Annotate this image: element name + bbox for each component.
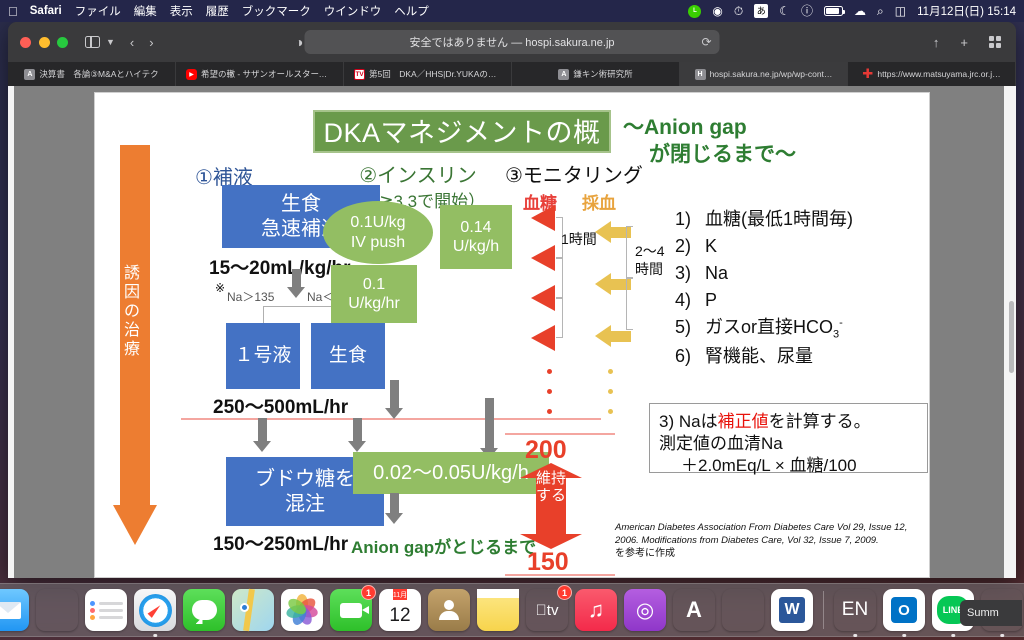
battery-icon[interactable]	[824, 6, 843, 16]
control-center-icon[interactable]: ◉	[712, 5, 722, 17]
back-button[interactable]: ‹	[127, 31, 137, 53]
dock-item-apple-tv[interactable]: tv1	[526, 589, 568, 631]
bookmark-item-5[interactable]: ✚https://www.matsuyama.jrc.or.j…	[848, 62, 1016, 86]
time-machine-icon[interactable]: ⏱	[734, 5, 743, 17]
na-correction-box: 3) Naは補正値を計算する。 測定値の血清Na ＋2.0mEq/L × 血糖/…	[649, 403, 928, 473]
apple-logo-icon[interactable]: 	[8, 5, 18, 18]
address-bar-text: 安全ではありません — hospi.sakura.ne.jp	[409, 34, 614, 50]
bookmark-favicon-icon: ▶	[186, 69, 197, 80]
minimize-button[interactable]	[39, 37, 50, 48]
bookmark-favicon-icon: A	[558, 69, 569, 80]
menu-item-view[interactable]: 表示	[170, 3, 193, 19]
dock-item-notes[interactable]	[477, 589, 519, 631]
share-icon[interactable]: ↑	[930, 31, 943, 53]
monitoring-list: 1)血糖(最低1時間毎)2)K3)Na4)P5)ガスor直接HCO3-6)腎機能…	[675, 206, 853, 370]
monitoring-list-text: Na	[705, 260, 728, 287]
dock-item-messages[interactable]	[183, 589, 225, 631]
interval-2-4hour-line1: 2〜4	[635, 243, 665, 261]
monitoring-list-text: ガスor直接HCO3-	[705, 314, 843, 343]
slide-title: DKAマネジメントの概要	[313, 110, 611, 153]
new-tab-icon[interactable]: +	[957, 31, 971, 53]
bookmarks-bar: A決算書 各論③M&Aとハイテク▶希望の轍 - サザンオールスターズ -…TV第…	[8, 62, 1016, 86]
bookmark-favicon-icon: ✚	[862, 69, 873, 80]
grey-arrow-down-5-icon	[480, 398, 498, 459]
orange-arrow-label: 誘因の治療	[117, 265, 147, 359]
safari-toolbar: ▼ ‹ › ◑ 安全ではありません — hospi.sakura.ne.jp ⟳…	[8, 22, 1016, 62]
dock-item-photos[interactable]	[281, 589, 323, 631]
page-scrollbar[interactable]	[1009, 301, 1014, 373]
dock-item-en-dictionary[interactable]: EN	[834, 589, 876, 631]
dock-running-indicator	[951, 634, 955, 638]
interval-2-4hour-label: 2〜4 時間	[635, 243, 665, 278]
dock-badge: 1	[557, 585, 572, 600]
red-triangle-2-icon	[531, 245, 555, 271]
bookmark-item-0[interactable]: A決算書 各論③M&Aとハイテク	[8, 62, 176, 86]
search-icon[interactable]: ⌕	[877, 5, 884, 17]
bookmark-favicon-icon: H	[695, 69, 706, 80]
na-box-line2: 測定値の血清Na	[659, 433, 918, 455]
red-triangle-4-icon	[531, 325, 555, 351]
bracket-24hour-b	[626, 278, 633, 330]
chevron-down-icon[interactable]: ▼	[103, 31, 118, 53]
asterisk-mark: ※	[215, 281, 225, 295]
yellow-dot-3	[608, 409, 613, 414]
menu-bar-status-area: L ◉ ⏱ あ ☾ ⓘ ☁ ⌕ ◫ 11月12日(日) 15:14	[688, 3, 1016, 19]
na-greater-135: Na＞135	[227, 288, 274, 305]
anion-gap-bottom-label: Anion gapがとじるまで	[351, 533, 536, 558]
maintain-label: 維持する	[535, 471, 567, 505]
section-2-title: ②インスリン	[359, 165, 477, 187]
monitoring-list-item: 2)K	[675, 233, 853, 260]
citation: American Diabetes Association From Diabe…	[615, 522, 915, 560]
red-dot-3	[547, 409, 552, 414]
monitoring-list-number: 6)	[675, 343, 705, 370]
menu-item-help[interactable]: ヘルプ	[394, 3, 429, 19]
red-dot-1	[547, 369, 552, 374]
monitoring-list-text: 腎機能、尿量	[705, 343, 813, 370]
dock: 111月12tv1♫◎AWENOLINE	[0, 583, 1024, 637]
envelope-icon	[0, 602, 21, 619]
rate-150-250: 150〜250mL/hr	[213, 529, 348, 556]
dock-item-launchpad[interactable]	[36, 589, 78, 631]
red-triangle-1-icon	[531, 205, 555, 231]
glucose-target-upper: 200	[525, 436, 567, 465]
sidebar-toggle-icon[interactable]	[82, 31, 103, 53]
bracket-1hour-c	[556, 298, 563, 338]
monitoring-list-item: 3)Na	[675, 260, 853, 287]
window-controls	[20, 37, 68, 48]
na-box-line1-post: を計算する。	[769, 412, 871, 431]
bookmark-item-3[interactable]: A鎌キン術研究所	[512, 62, 680, 86]
yellow-dot-2	[608, 389, 613, 394]
insulin-bolus-line1: 0.1U/kg	[350, 213, 405, 232]
grey-arrow-down-3-icon	[348, 418, 366, 452]
dock-badge: 1	[361, 585, 376, 600]
bookmark-favicon-icon: TV	[354, 69, 365, 80]
dock-running-indicator	[902, 634, 906, 638]
citation-japanese: を参考に作成	[615, 547, 915, 560]
dock-item-mail[interactable]	[0, 589, 29, 631]
na-box-line1: 3) Naは補正値を計算する。	[659, 411, 918, 433]
dka-management-slide: DKAマネジメントの概要 〜Anion gap が閉じるまで〜 ①補液 ②インス…	[94, 92, 930, 578]
ime-kana-icon[interactable]: あ	[754, 4, 768, 18]
pink-divider-200	[505, 433, 615, 435]
monitoring-list-number: 5)	[675, 314, 705, 343]
red-triangle-3-icon	[531, 285, 555, 311]
red-dot-2	[547, 389, 552, 394]
monitoring-list-text: 血糖(最低1時間毎)	[705, 206, 853, 233]
na-box-line1-red: 補正値	[718, 412, 769, 431]
monitoring-list-item: 1)血糖(最低1時間毎)	[675, 206, 853, 233]
menu-item-bookmarks[interactable]: ブックマーク	[242, 3, 311, 19]
citation-english: American Diabetes Association From Diabe…	[615, 522, 907, 546]
grey-arrow-down-1-icon	[287, 269, 305, 298]
dock-item-music[interactable]: ♫	[575, 589, 617, 631]
insulin-bolus-ellipse: 0.1U/kg IV push	[323, 201, 433, 264]
speech-bubble-icon	[192, 600, 217, 620]
menu-bar-clock[interactable]: 11月12日(日) 15:14	[917, 3, 1016, 19]
insulin-bolus-line2: IV push	[351, 233, 405, 252]
box-glucose-line2: 混注	[285, 492, 325, 516]
insulin-014-line2: U/kg/h	[453, 237, 499, 256]
yellow-dot-1	[608, 369, 613, 374]
dock-item-reminders[interactable]	[85, 589, 127, 631]
insulin-014-box: 0.14 U/kg/h	[440, 205, 512, 269]
bookmark-label: 第5回 DKA／HHS|Dr.YUKAの5…	[369, 68, 501, 80]
bookmark-favicon-icon: A	[24, 69, 35, 80]
dock-running-indicator	[853, 634, 857, 638]
forward-button[interactable]: ›	[146, 31, 156, 53]
box-1gou-fluid: １号液	[226, 323, 300, 389]
reader-view-icon[interactable]: ◑	[295, 34, 303, 50]
dock-running-indicator	[1000, 634, 1004, 638]
compass-icon	[139, 594, 172, 627]
bookmark-item-4[interactable]: Hhospi.sakura.ne.jp/wp/wp-cont…	[680, 62, 848, 86]
bookmark-label: hospi.sakura.ne.jp/wp/wp-cont…	[710, 69, 833, 79]
wifi-icon[interactable]: ☁	[854, 5, 866, 17]
dock-item-calendar[interactable]: 11月12	[379, 589, 421, 631]
monitoring-list-item: 6)腎機能、尿量	[675, 343, 853, 370]
menu-item-file[interactable]: ファイル	[75, 3, 121, 19]
menu-app-name[interactable]: Safari	[30, 5, 62, 17]
anion-gap-heading-line2: が閉じるまで〜	[623, 142, 923, 169]
menu-item-window[interactable]: ウインドウ	[324, 3, 382, 19]
anion-gap-heading-line1: 〜Anion gap	[623, 115, 923, 142]
dock-item-podcasts[interactable]: ◎	[624, 589, 666, 631]
monitoring-list-item: 5)ガスor直接HCO3-	[675, 314, 853, 343]
address-bar[interactable]: 安全ではありません — hospi.sakura.ne.jp ⟳	[305, 30, 720, 54]
anion-gap-heading: 〜Anion gap が閉じるまで〜	[623, 115, 923, 169]
box-saline-2: 生食	[311, 323, 385, 389]
menu-item-history[interactable]: 履歴	[206, 3, 229, 19]
monitoring-list-number: 2)	[675, 233, 705, 260]
screen-share-icon[interactable]: ◫	[895, 5, 906, 17]
safari-window: ▼ ‹ › ◑ 安全ではありません — hospi.sakura.ne.jp ⟳…	[8, 22, 1016, 578]
monitoring-list-number: 1)	[675, 206, 705, 233]
insulin-01-box: 0.1 U/kg/hr	[331, 265, 417, 323]
bracket-1hour-b	[556, 258, 563, 298]
dock-item-word[interactable]: W	[771, 589, 813, 631]
bracket-24hour-a	[626, 226, 633, 278]
dock-item-safari[interactable]	[134, 589, 176, 631]
menu-bar:  Safari ファイル 編集 表示 履歴 ブックマーク ウインドウ ヘルプ …	[0, 0, 1024, 22]
bookmark-label: 決算書 各論③M&Aとハイテク	[39, 68, 158, 80]
interval-2-4hour-line2: 時間	[635, 261, 665, 279]
rate-15-20: 15〜20mL/kg/hr	[209, 253, 351, 280]
monitoring-list-number: 3)	[675, 260, 705, 287]
line-icon[interactable]: L	[688, 5, 701, 18]
tab-overview-icon[interactable]	[986, 31, 1004, 53]
pink-divider-150	[505, 574, 615, 576]
summary-button[interactable]: Summ	[960, 600, 1022, 626]
box-saline-line1: 生食	[281, 192, 321, 216]
dock-item-maps[interactable]	[232, 589, 274, 631]
do-not-disturb-icon[interactable]: ☾	[779, 5, 790, 17]
reload-icon[interactable]: ⟳	[701, 35, 711, 49]
page-viewport: DKAマネジメントの概要 〜Anion gap が閉じるまで〜 ①補液 ②インス…	[8, 86, 1016, 578]
menu-item-edit[interactable]: 編集	[134, 3, 157, 19]
grey-arrow-down-4-icon	[385, 493, 403, 524]
video-camera-icon	[340, 603, 362, 618]
monitoring-list-text: K	[705, 233, 717, 260]
na-box-line3: ＋2.0mEq/L × 血糖/100	[659, 455, 918, 477]
bookmark-label: 鎌キン術研究所	[573, 68, 632, 80]
info-icon[interactable]: ⓘ	[801, 5, 813, 17]
insulin-01-line2: U/kg/hr	[348, 294, 400, 313]
bookmark-item-2[interactable]: TV第5回 DKA／HHS|Dr.YUKAの5…	[344, 62, 512, 86]
monitoring-list-item: 4)P	[675, 287, 853, 314]
dock-item-app-store[interactable]: A	[673, 589, 715, 631]
grey-arrow-down-6-icon	[385, 380, 403, 419]
dock-running-indicator	[153, 634, 157, 638]
insulin-01-line1: 0.1	[363, 275, 385, 294]
na-box-line1-pre: 3) Naは	[659, 412, 718, 431]
zoom-button[interactable]	[57, 37, 68, 48]
dock-item-facetime[interactable]: 1	[330, 589, 372, 631]
dock-item-contacts[interactable]	[428, 589, 470, 631]
close-button[interactable]	[20, 37, 31, 48]
label-blood-draw: 採血	[582, 189, 616, 214]
bookmark-label: 希望の轍 - サザンオールスターズ -…	[201, 68, 333, 80]
monitoring-list-number: 4)	[675, 287, 705, 314]
page-left-margin	[8, 86, 14, 578]
grey-arrow-down-2-icon	[253, 418, 271, 452]
bookmark-item-1[interactable]: ▶希望の轍 - サザンオールスターズ -…	[176, 62, 344, 86]
box-glucose-line1: ブドウ糖を	[255, 467, 355, 491]
rate-250-500: 250〜500mL/hr	[213, 392, 348, 419]
interval-1hour-label: 1時間	[561, 229, 597, 249]
toolbar-right-group: ↑ +	[930, 31, 1004, 53]
bookmark-label: https://www.matsuyama.jrc.or.j…	[877, 69, 1000, 79]
section-3-header: ③モニタリング	[505, 159, 643, 188]
dock-item-system-settings[interactable]	[722, 589, 764, 631]
glucose-target-lower: 150	[527, 548, 569, 577]
insulin-014-line1: 0.14	[460, 218, 491, 237]
dock-separator	[823, 591, 824, 629]
monitoring-list-text: P	[705, 287, 717, 314]
dock-item-outlook[interactable]: O	[883, 589, 925, 631]
